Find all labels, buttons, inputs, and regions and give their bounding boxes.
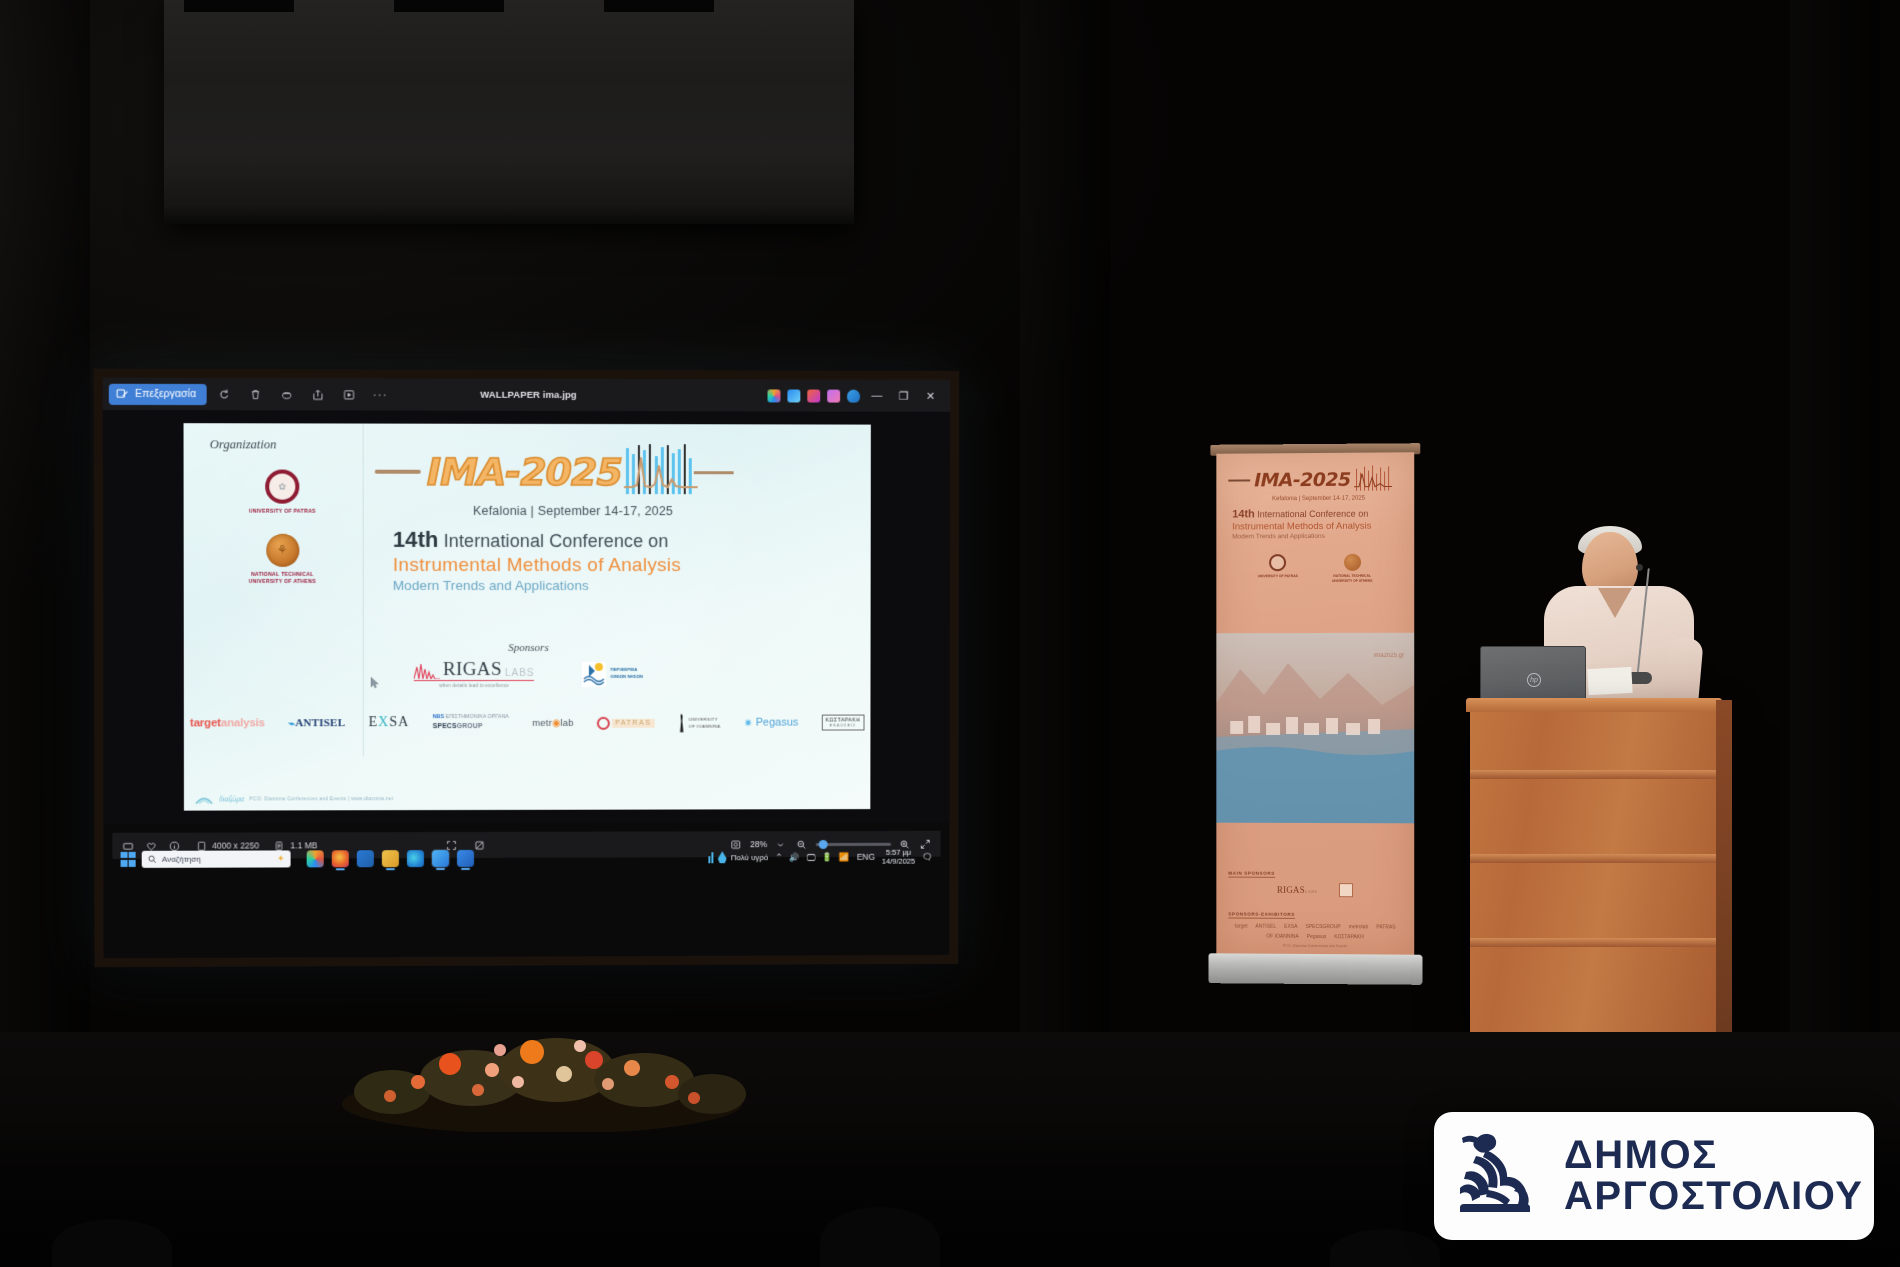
poster-tagline: Modern Trends and Applications	[393, 578, 859, 593]
municipality-badge: ΔΗΜΟΣ ΑΡΓΟΣΤΟΛΙΟΥ	[1434, 1112, 1874, 1240]
banner-sponsor-item: SPECSGROUP	[1305, 924, 1340, 930]
banner-tagline: Modern Trends and Applications	[1232, 532, 1414, 540]
search-icon	[148, 854, 157, 863]
sponsors-label: Sponsors	[184, 642, 871, 654]
banner-sponsor-ionian	[1339, 883, 1353, 897]
projection-screen: Επεξεργασία	[94, 369, 960, 968]
diazoma-icon	[194, 793, 214, 806]
podium-top-surface	[1466, 698, 1722, 712]
poster-subject: Instrumental Methods of Analysis	[393, 555, 859, 577]
chromatogram-icon	[624, 446, 698, 498]
taskbar-outlook[interactable]	[357, 850, 374, 867]
photos-app-window: Επεξεργασία	[103, 378, 951, 824]
banner-chromatogram-icon	[1354, 466, 1392, 492]
edit-image-button[interactable]: Επεξεργασία	[109, 383, 206, 404]
ntua-seal-icon: ⚘	[266, 533, 299, 566]
municipality-line1: ΔΗΜΟΣ	[1564, 1135, 1863, 1176]
clock-date: 14/9/2025	[882, 857, 915, 866]
pco-credit: διαζώμα PCO: Diazoma Conferences and Eve…	[194, 792, 393, 805]
edit-image-icon	[116, 387, 129, 400]
zoom-slider[interactable]	[816, 842, 891, 845]
poster-headline: 14th International Conference on	[393, 527, 859, 553]
weather-widget[interactable]: Πολύ υγρό	[708, 851, 768, 863]
wooden-podium	[1470, 706, 1718, 1036]
restore-button[interactable]: ❐	[894, 386, 914, 406]
banner-sponsors-block: MAIN SPONSORS RIGASLABS SPONSORS-EXHIBIT…	[1216, 862, 1414, 949]
rollup-banner: IMA-2025 Kefalonia | September 14-17, 20…	[1216, 443, 1414, 985]
clipchamp-icon[interactable]	[807, 389, 820, 402]
municipality-name: ΔΗΜΟΣ ΑΡΓΟΣΤΟΛΙΟΥ	[1564, 1135, 1863, 1217]
banner-logo-row: IMA-2025	[1228, 466, 1414, 493]
sparkle-icon: ✦	[277, 853, 285, 864]
windows-start-icon[interactable]	[121, 851, 136, 866]
taskbar-file-explorer[interactable]	[382, 850, 399, 867]
poster-main-column: IMA-2025	[375, 446, 859, 593]
favorite-ring-icon[interactable]	[274, 382, 300, 406]
mouse-cursor-icon	[371, 677, 379, 688]
banner-website: ima2025.gr	[1374, 653, 1404, 659]
battery-icon[interactable]: 🔋	[822, 851, 833, 862]
rigas-tagline: when details lead to excellence	[414, 683, 535, 688]
sponsor-patras: PATRAS	[597, 712, 654, 734]
diazoma-brand: διαζώμα	[219, 794, 244, 803]
photos-titlebar: Επεξεργασία	[103, 378, 951, 412]
rigas-labs-suffix: LABS	[505, 668, 535, 679]
close-button[interactable]: ✕	[920, 386, 940, 406]
banner-subject: Instrumental Methods of Analysis	[1232, 520, 1414, 532]
podium-rail	[1470, 770, 1718, 779]
logo-right-dash	[694, 471, 734, 474]
floral-arrangement	[332, 1012, 752, 1132]
banner-base-stand	[1208, 953, 1422, 985]
banner-edition: 14th	[1232, 508, 1255, 520]
org-label-ntua: NATIONAL TECHNICAL UNIVERSITY OF ATHENS	[206, 571, 359, 586]
paint-icon[interactable]	[827, 389, 840, 402]
taskbar-copilot[interactable]	[307, 850, 324, 867]
stage-backdrop-cloth	[164, 0, 854, 224]
humidity-bars-icon	[708, 852, 713, 863]
banner-sponsor-item: Pegasus	[1307, 934, 1326, 940]
banner-sponsor-grid: target ANTISEL EXSA SPECSGROUP metrolab …	[1228, 923, 1402, 940]
ima-2025-poster: Organization ✿ UNIVERSITY OF PATRAS ⚘ NA…	[184, 423, 871, 810]
banner-headline: 14th International Conference on	[1232, 507, 1414, 520]
banner-sponsor-item: ΚΩΣΤΑΡΑΚΗ	[1334, 934, 1363, 940]
taskbar-firefox[interactable]	[332, 850, 349, 867]
taskbar-photos[interactable]	[432, 850, 449, 867]
sponsor-ionian-islands-region: ΠΕΡΙΦΕΡΕΙΑ ΙΟΝΙΩΝ ΝΗΣΩΝ	[582, 661, 642, 686]
podium-side-panel	[1716, 700, 1732, 1036]
banner-sponsor-item: metrolab	[1349, 924, 1368, 930]
volume-icon[interactable]: 🔊	[789, 852, 800, 863]
humidity-icon	[718, 851, 727, 863]
poster-divider	[363, 424, 364, 757]
poster-edition: 14th	[393, 527, 439, 552]
main-sponsors-row: RIGAS LABS when details lead to excellen…	[184, 660, 871, 688]
poster-location-date: Kefalonia | September 14-17, 2025	[473, 504, 859, 518]
sponsor-university-of-ioannina: UNIVERSITY OF IOANNINA	[678, 712, 721, 734]
weather-text: Πολύ υγρό	[731, 853, 769, 862]
rotate-icon[interactable]	[211, 382, 237, 406]
taskbar-edge[interactable]	[407, 850, 424, 867]
sponsor-pegasus: ✷ Pegasus	[744, 712, 799, 734]
banner-pco-credit: PCO: Diazoma Conferences and Events	[1228, 943, 1402, 948]
ima-logo-row: IMA-2025	[375, 446, 859, 499]
notifications-icon[interactable]: 🗨	[922, 851, 933, 862]
cloth-notch	[394, 0, 504, 12]
cloth-notch	[604, 0, 714, 12]
clock-time: 5:57 μμ	[886, 847, 911, 856]
banner-sponsor-item: EXSA	[1284, 924, 1297, 930]
delete-icon[interactable]	[242, 382, 268, 406]
banner-kefalonia-photo	[1216, 633, 1414, 824]
banner-sponsor-item: target	[1235, 924, 1248, 930]
banner-sponsor-rigas: RIGASLABS	[1277, 885, 1317, 895]
sponsor-antisel: ⌁ANTISEL	[288, 712, 345, 734]
sponsor-target-analysis: targetanalysis	[190, 712, 265, 734]
banner-patras-seal-icon	[1269, 554, 1286, 571]
patras-ring-icon	[597, 716, 610, 729]
municipality-line2: ΑΡΓΟΣΤΟΛΙΟΥ	[1564, 1176, 1863, 1217]
banner-org-patras: UNIVERSITY OF PATRAS	[1258, 554, 1298, 584]
sponsor-logos-row: targetanalysis ⌁ANTISEL EXSA NBS ΕΠΙΣΤΗΜ…	[190, 712, 865, 735]
sponsor-kostarakis: ΚΩΣΤΑΡΑΚΗ ΕΚΔΟΣΕΙΣ	[821, 712, 864, 734]
copilot-icon[interactable]	[768, 389, 781, 402]
banner-logo-dash	[1228, 479, 1250, 482]
cloth-notch	[184, 0, 294, 12]
sponsor-metrolab: metr◉lab	[532, 712, 574, 734]
rigas-peaks-icon	[414, 662, 440, 679]
sponsor-rigas-labs: RIGAS LABS when details lead to excellen…	[414, 660, 535, 688]
system-tray: Πολύ υγρό ⌃ 🔊 🖵 🔋 📶 ENG 5:57 μμ 14/9/202…	[708, 847, 932, 866]
titlebar-right-group: — ❐ ✕	[768, 385, 945, 405]
org-ntua: ⚘ NATIONAL TECHNICAL UNIVERSITY OF ATHEN…	[206, 533, 359, 586]
organization-label: Organization	[210, 437, 359, 452]
banner-ntua-seal-icon	[1344, 554, 1361, 571]
rigas-wordmark: RIGAS	[443, 660, 502, 679]
onedrive-icon[interactable]	[847, 389, 860, 402]
taskbar-apps	[307, 849, 474, 866]
speaker-at-podium: hp	[1470, 520, 1770, 1040]
banner-sponsor-item: OF IOANNINA	[1266, 934, 1298, 940]
share-icon[interactable]	[305, 382, 331, 406]
speaker-notes-paper	[1587, 667, 1632, 695]
organization-column: Organization ✿ UNIVERSITY OF PATRAS ⚘ NA…	[206, 437, 359, 586]
ima-logo-text: IMA-2025	[427, 453, 622, 491]
conference-stage-photo: Επεξεργασία	[0, 0, 1900, 1267]
wifi-icon[interactable]: 📶	[839, 851, 850, 862]
banner-logo-text: IMA-2025	[1254, 470, 1351, 490]
banner-main-sponsors-row: RIGASLABS	[1228, 883, 1402, 898]
search-input[interactable]: Αναζήτηση ✦	[142, 850, 291, 867]
org-label-patras: UNIVERSITY OF PATRAS	[206, 509, 359, 517]
minimize-button[interactable]: —	[867, 386, 887, 406]
edit-image-label: Επεξεργασία	[135, 388, 196, 400]
image-canvas[interactable]: Organization ✿ UNIVERSITY OF PATRAS ⚘ NA…	[103, 410, 950, 824]
banner-location-date: Kefalonia | September 14-17, 2025	[1272, 495, 1414, 502]
patras-seal-icon: ✿	[265, 470, 299, 504]
slideshow-icon[interactable]	[336, 382, 362, 406]
rigas-lockup: RIGAS LABS	[414, 660, 535, 679]
banner-sponsor-item: ANTISEL	[1255, 924, 1276, 930]
banner-org-ntua: NATIONAL TECHNICAL UNIVERSITY OF ATHENS	[1332, 554, 1373, 584]
image-dimensions: 4000 x 2250	[212, 841, 259, 851]
taskbar-clock[interactable]: 5:57 μμ 14/9/2025	[882, 847, 915, 866]
logo-left-dash	[375, 470, 421, 474]
taskbar-zoom[interactable]	[457, 849, 474, 866]
statue-icon	[1452, 1128, 1546, 1224]
pco-text: PCO: Diazoma Conferences and Events | ww…	[249, 796, 393, 802]
language-indicator[interactable]: ENG	[857, 852, 875, 862]
microphone-capsule	[1636, 564, 1643, 571]
banner-organizations: UNIVERSITY OF PATRAS NATIONAL TECHNICAL …	[1216, 554, 1414, 585]
search-placeholder: Αναζήτηση	[162, 854, 201, 863]
podium-rail	[1470, 854, 1718, 863]
display-icon[interactable]: 🖵	[807, 851, 815, 862]
ioannina-figure-icon	[678, 713, 686, 732]
designer-icon[interactable]	[787, 389, 800, 402]
pegasus-star-icon: ✷	[744, 716, 753, 729]
hp-logo: hp	[1527, 673, 1541, 687]
poster-headline-rest: International Conference on	[439, 531, 669, 551]
more-options-icon[interactable]: ···	[367, 382, 393, 406]
banner-sponsor-item: PATRAS	[1376, 924, 1395, 930]
sponsor-exsa: EXSA	[369, 712, 410, 734]
sponsor-specs-group: NBS ΕΠΙΣΤΗΜΟΝΙΚΑ ΟΡΓΑΝΑ SPECSGROUP	[433, 712, 509, 734]
chevron-up-icon[interactable]: ⌃	[775, 852, 782, 863]
banner-artwork: IMA-2025 Kefalonia | September 14-17, 20…	[1216, 452, 1414, 954]
podium-rail	[1470, 938, 1718, 947]
banner-main-sponsors-heading: MAIN SPONSORS	[1228, 871, 1275, 878]
ionian-islands-icon	[582, 661, 606, 686]
org-university-of-patras: ✿ UNIVERSITY OF PATRAS	[206, 469, 359, 516]
actual-size-icon[interactable]	[472, 838, 486, 852]
ionian-islands-label: ΠΕΡΙΦΕΡΕΙΑ ΙΟΝΙΩΝ ΝΗΣΩΝ	[610, 667, 643, 680]
banner-sponsors-heading: SPONSORS-EXHIBITORS	[1228, 912, 1295, 919]
